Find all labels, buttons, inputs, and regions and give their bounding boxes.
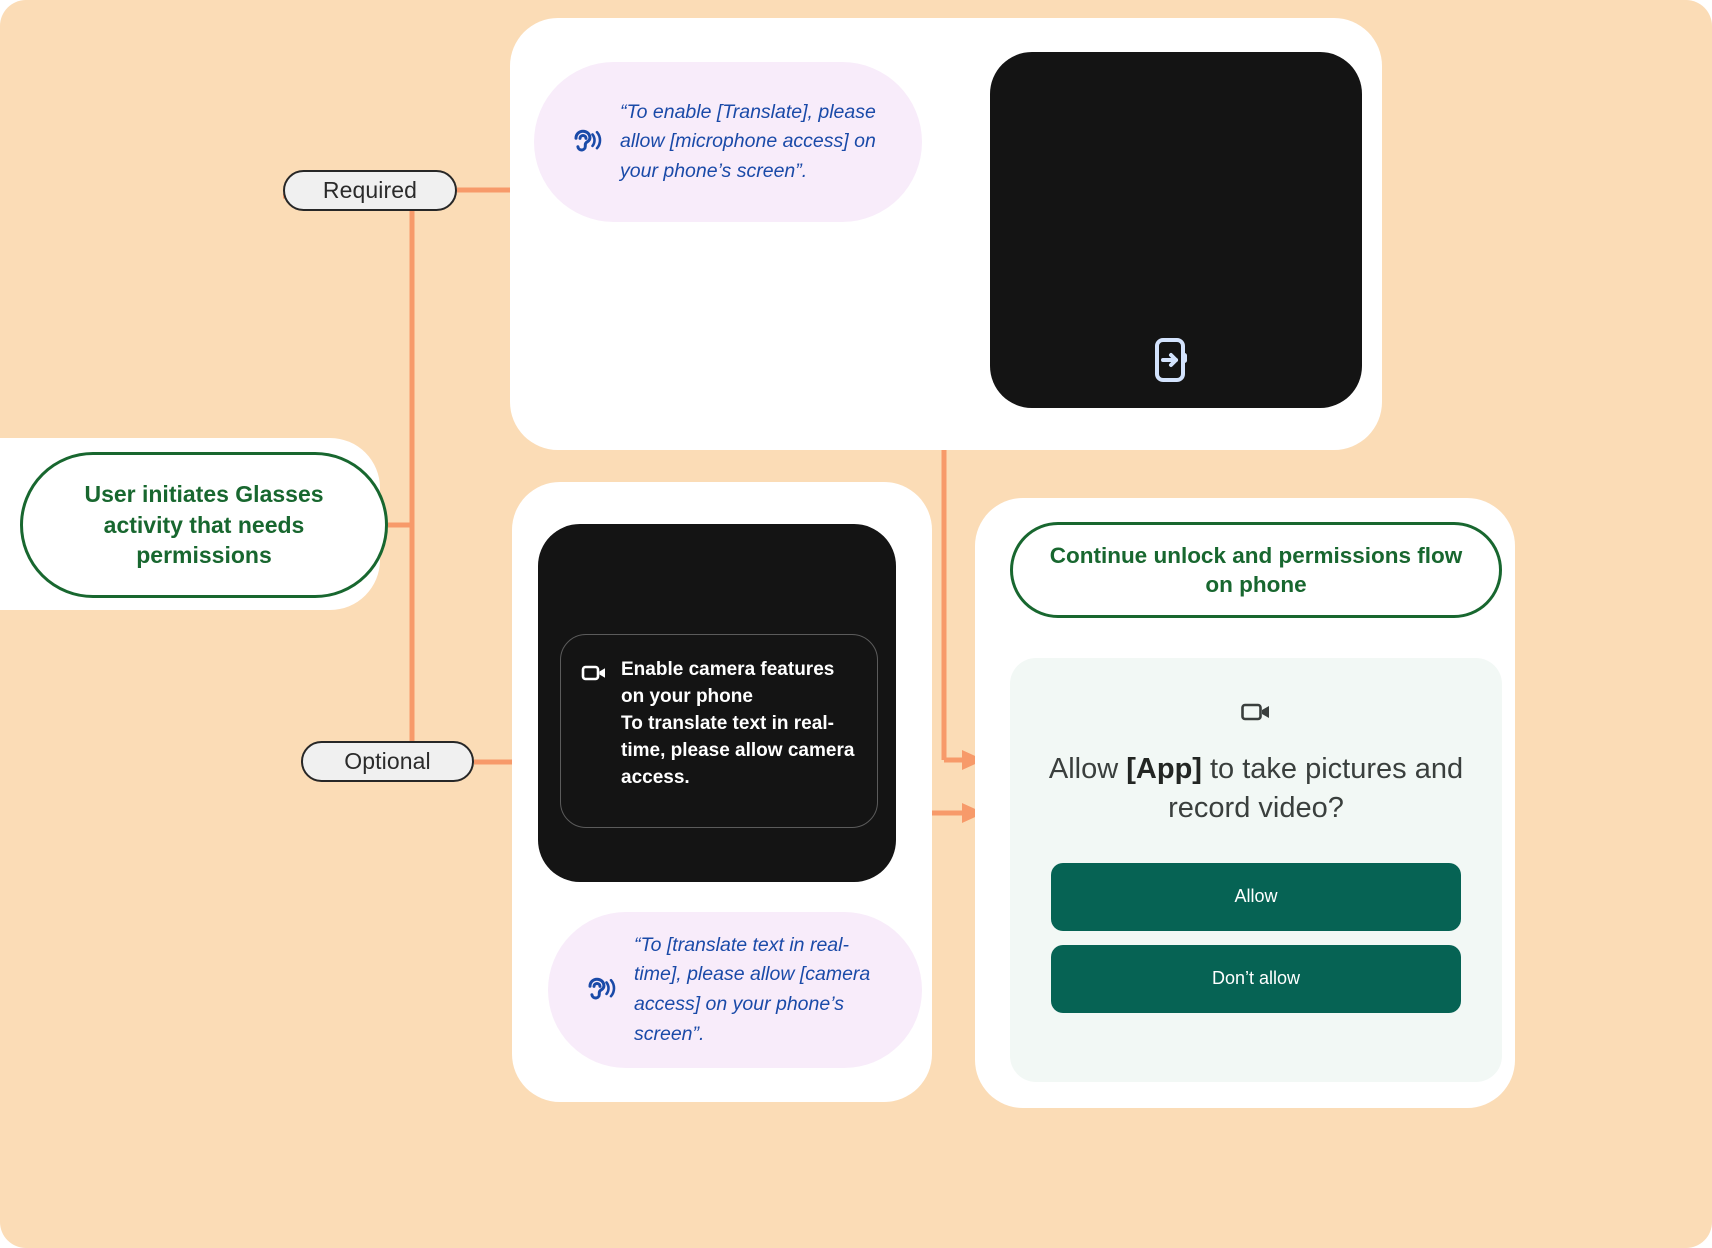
allow-button[interactable]: Allow bbox=[1051, 863, 1461, 931]
ear-listening-icon bbox=[568, 125, 602, 159]
unlock-phone-icon bbox=[1150, 336, 1194, 384]
branch-pill-optional[interactable]: Optional bbox=[301, 741, 474, 782]
ear-listening-icon bbox=[582, 973, 616, 1007]
continue-on-phone-label: Continue unlock and permissions flow on … bbox=[1037, 541, 1475, 600]
microphone-prompt-bubble: “To enable [Translate], please allow [mi… bbox=[534, 62, 922, 222]
branch-required-label: Required bbox=[323, 177, 417, 204]
diagram-canvas: User initiates Glasses activity that nee… bbox=[0, 0, 1712, 1248]
microphone-prompt-text: “To enable [Translate], please allow [mi… bbox=[620, 98, 892, 187]
permission-question-suffix: to take pictures and record video? bbox=[1168, 753, 1463, 824]
permission-question-app: [App] bbox=[1126, 753, 1202, 785]
dont-allow-button-label: Don’t allow bbox=[1212, 968, 1300, 989]
branch-optional-label: Optional bbox=[344, 748, 430, 775]
camera-prompt-bubble: “To [translate text in real-time], pleas… bbox=[548, 912, 922, 1068]
notification-body: To translate text in real-time, please a… bbox=[621, 711, 859, 792]
start-node-label: User initiates Glasses activity that nee… bbox=[49, 479, 359, 570]
video-camera-icon bbox=[1240, 696, 1272, 728]
permission-question: Allow [App] to take pictures and record … bbox=[1041, 750, 1471, 829]
allow-button-label: Allow bbox=[1234, 886, 1277, 907]
permission-question-prefix: Allow bbox=[1049, 753, 1126, 785]
branch-pill-required[interactable]: Required bbox=[283, 170, 457, 211]
camera-permission-notification[interactable]: Enable camera features on your phone To … bbox=[560, 634, 878, 828]
notification-title: Enable camera features on your phone bbox=[621, 657, 859, 711]
video-camera-icon bbox=[581, 660, 607, 686]
dont-allow-button[interactable]: Don’t allow bbox=[1051, 945, 1461, 1013]
camera-prompt-text: “To [translate text in real-time], pleas… bbox=[634, 931, 892, 1050]
continue-on-phone-node[interactable]: Continue unlock and permissions flow on … bbox=[1010, 522, 1502, 618]
start-node[interactable]: User initiates Glasses activity that nee… bbox=[20, 452, 388, 598]
android-permission-dialog: Allow [App] to take pictures and record … bbox=[1010, 658, 1502, 1082]
